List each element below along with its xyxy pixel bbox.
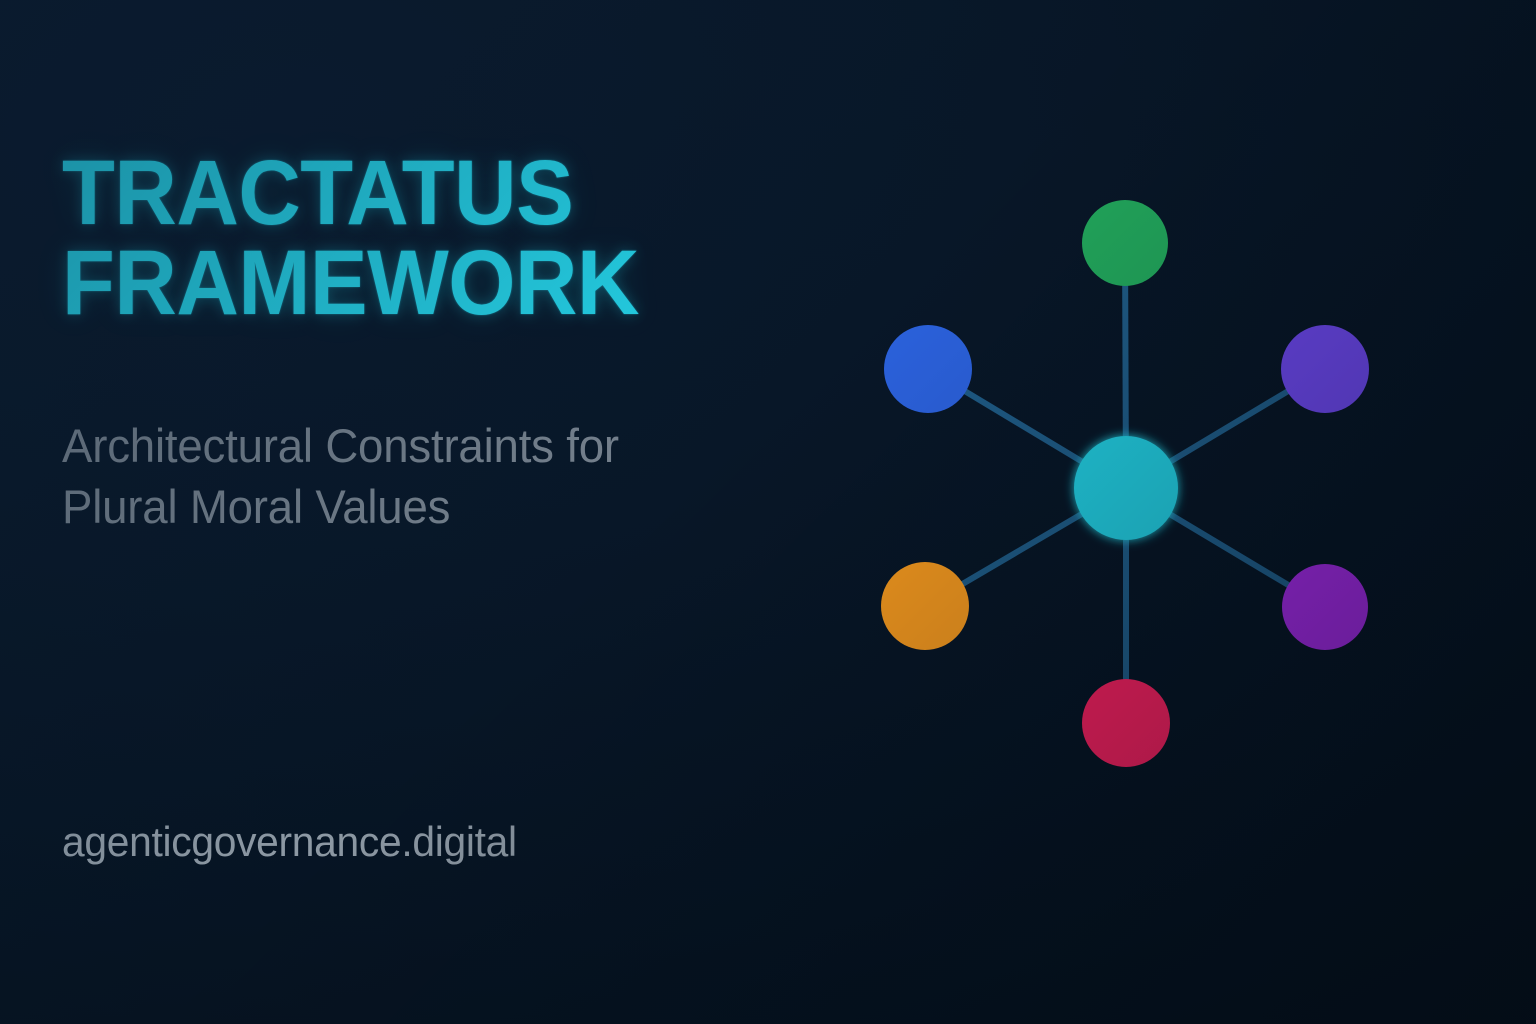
page-title: TRACTATUS FRAMEWORK	[62, 148, 758, 328]
edge-hub-to-blue	[962, 390, 1086, 465]
node-orange[interactable]	[881, 562, 969, 650]
node-blue[interactable]	[884, 325, 972, 413]
edge-hub-to-green	[1125, 282, 1126, 442]
text-column: TRACTATUS FRAMEWORK Architectural Constr…	[62, 0, 822, 1024]
node-pink[interactable]	[1082, 679, 1170, 767]
hub-node[interactable]	[1074, 436, 1178, 540]
title-card: TRACTATUS FRAMEWORK Architectural Constr…	[0, 0, 1536, 1024]
node-green[interactable]	[1082, 200, 1168, 286]
page-subtitle: Architectural Constraints for Plural Mor…	[62, 415, 760, 537]
edge-hub-to-purple	[1165, 512, 1291, 587]
node-violet[interactable]	[1281, 325, 1369, 413]
hub-and-spoke-diagram	[820, 120, 1480, 880]
diagram-nodes	[881, 200, 1369, 767]
site-url: agenticgovernance.digital	[62, 818, 517, 866]
edge-hub-to-orange	[959, 511, 1086, 585]
node-purple[interactable]	[1282, 564, 1368, 650]
edge-hub-to-violet	[1165, 390, 1290, 465]
diagram-svg	[820, 120, 1480, 880]
